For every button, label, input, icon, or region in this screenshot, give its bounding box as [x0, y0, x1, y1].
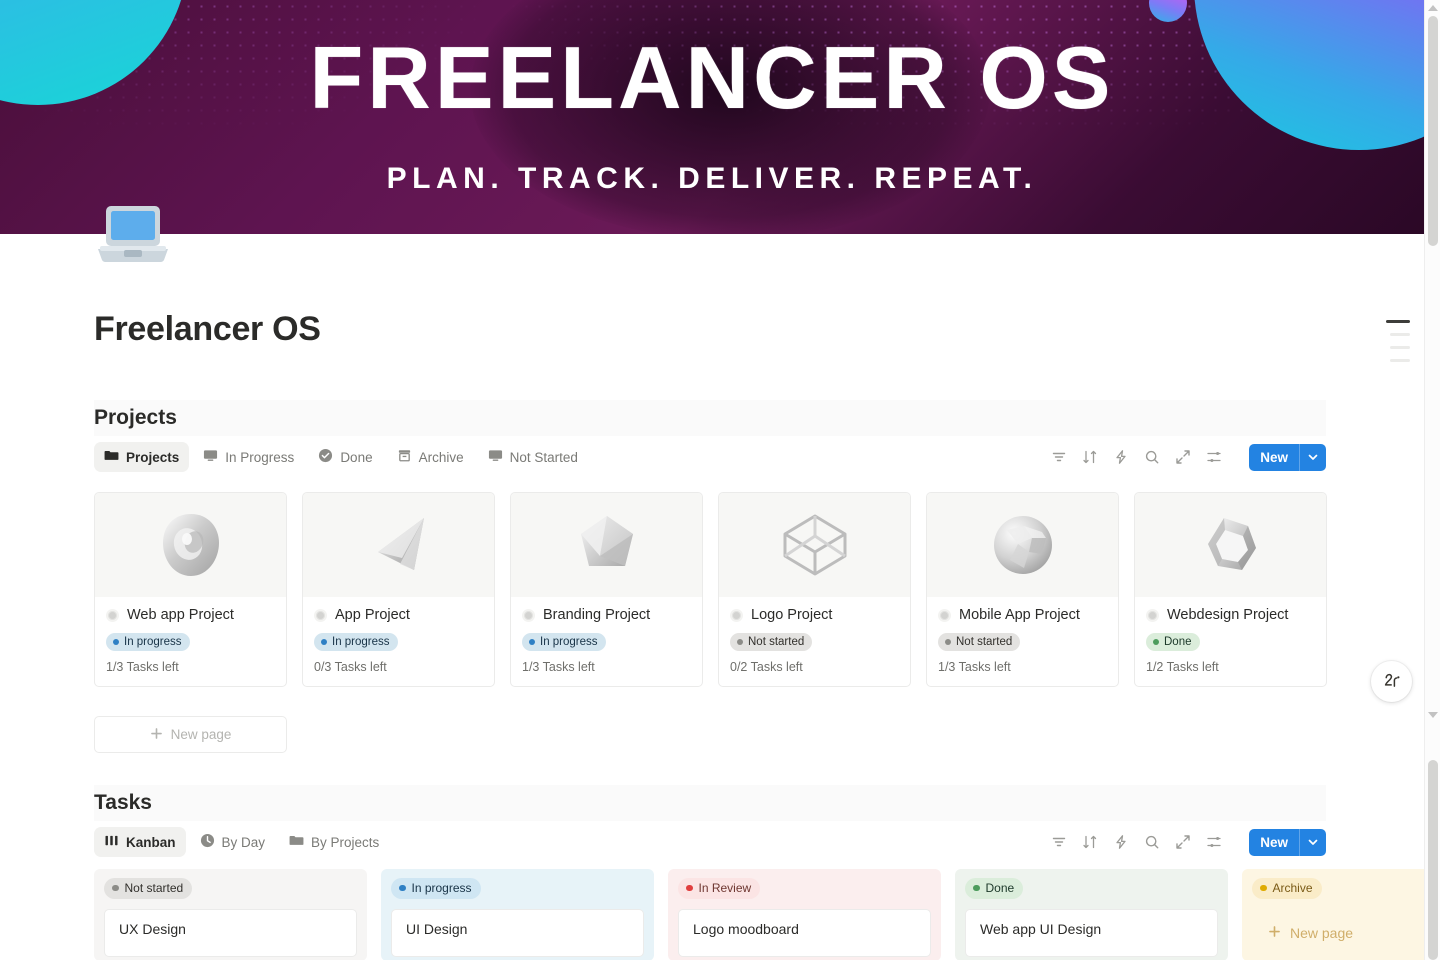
project-card-cover [927, 493, 1118, 597]
project-card-title-row: Branding Project [522, 607, 691, 623]
tab-archive-label: Archive [419, 450, 464, 465]
banner-subtitle: PLAN. TRACK. DELIVER. REPEAT. [387, 162, 1038, 196]
clock-icon [200, 833, 215, 851]
tasks-toolbar: Kanban By Day By Projects [94, 825, 1326, 859]
project-card-title: Logo Project [751, 607, 832, 623]
status-badge: In progress [106, 633, 190, 651]
badge-dot-icon [1153, 639, 1159, 645]
badge-dot-icon [945, 639, 951, 645]
kanban-column-label: In Review [699, 881, 752, 895]
knot-shape [154, 508, 228, 582]
project-card-title-row: Logo Project [730, 607, 899, 623]
cone-shape [362, 508, 436, 582]
project-card[interactable]: App Project In progress 0/3 Tasks left [302, 492, 495, 687]
status-badge-label: In progress [332, 636, 390, 648]
kanban-column-badge: In progress [391, 878, 481, 899]
tab-archive[interactable]: Archive [387, 442, 474, 472]
project-card-cover [95, 493, 286, 597]
project-card-title: Branding Project [543, 607, 650, 623]
tab-by-day-label: By Day [222, 835, 266, 850]
status-badge: Not started [730, 633, 812, 651]
status-badge: Done [1146, 633, 1200, 651]
tasks-new-button[interactable]: New [1249, 829, 1326, 856]
tab-projects[interactable]: Projects [94, 442, 189, 472]
projects-tool-icons: New [1050, 444, 1326, 471]
project-card-cover [1135, 493, 1326, 597]
projects-view-tabs: Projects In Progress Done Archive [94, 442, 588, 472]
project-tasks-left: 0/3 Tasks left [314, 660, 483, 674]
project-tasks-left: 1/3 Tasks left [106, 660, 275, 674]
kanban-card-title: Web app UI Design [980, 921, 1101, 937]
sort-icon[interactable] [1081, 448, 1099, 466]
project-card[interactable]: Branding Project In progress 1/3 Tasks l… [510, 492, 703, 687]
kanban-column-badge: Done [965, 878, 1023, 899]
project-card-title-row: App Project [314, 607, 483, 623]
project-card[interactable]: Logo Project Not started 0/2 Tasks left [718, 492, 911, 687]
tasks-view-tabs: Kanban By Day By Projects [94, 827, 389, 857]
tab-projects-label: Projects [126, 450, 179, 465]
badge-dot-icon [737, 639, 743, 645]
kanban-column-badge: Not started [104, 878, 192, 899]
tab-by-projects-label: By Projects [311, 835, 379, 850]
scrollbar-thumb[interactable] [1428, 16, 1438, 246]
toc-line[interactable] [1390, 333, 1410, 336]
facet-shape [570, 508, 644, 582]
table-of-contents[interactable] [1386, 320, 1410, 362]
kanban-column-in-progress[interactable]: In progress UI Design [381, 869, 654, 960]
ai-face-icon [1380, 670, 1404, 694]
project-card-title-row: Web app Project [106, 607, 275, 623]
page-title[interactable]: Freelancer OS [94, 310, 321, 349]
kanban-card[interactable]: UI Design [391, 909, 644, 957]
tab-not-started[interactable]: Not Started [478, 442, 588, 472]
kanban-column-in-review[interactable]: In Review Logo moodboard [668, 869, 941, 960]
status-badge: In progress [314, 633, 398, 651]
badge-dot-icon [973, 885, 980, 892]
page-scrollbar[interactable] [1424, 0, 1440, 960]
project-status-dot-icon [314, 609, 327, 622]
kanban-card-title: Logo moodboard [693, 921, 799, 937]
ai-assistant-button[interactable] [1371, 661, 1412, 702]
tasks-section-header: Tasks [94, 785, 1326, 821]
status-badge-label: In progress [124, 636, 182, 648]
monitor-icon [488, 448, 503, 466]
tasks-tool-icons: New [1050, 829, 1326, 856]
tab-done-label: Done [340, 450, 372, 465]
project-card-title: App Project [335, 607, 410, 623]
chevron-down-icon[interactable] [1300, 451, 1326, 463]
project-card-cover [303, 493, 494, 597]
projects-new-page-label: New page [171, 727, 232, 742]
folder-icon [104, 448, 119, 466]
kanban-column-archive[interactable]: Archive New page [1242, 869, 1440, 960]
status-badge-label: Not started [956, 636, 1012, 648]
wireframe-cube-shape [775, 508, 855, 582]
toc-line[interactable] [1390, 359, 1410, 362]
project-card-title-row: Mobile App Project [938, 607, 1107, 623]
projects-heading: Projects [94, 406, 177, 430]
kanban-board[interactable]: Not started UX Design In progress UI Des… [94, 869, 1440, 960]
tab-by-day[interactable]: By Day [190, 827, 276, 857]
plus-icon [1268, 925, 1281, 941]
tab-in-progress-label: In Progress [225, 450, 294, 465]
search-icon[interactable] [1143, 448, 1161, 466]
project-status-dot-icon [938, 609, 951, 622]
kanban-column-badge: In Review [678, 878, 760, 899]
settings-sliders-icon[interactable] [1205, 833, 1223, 851]
project-card-cover [719, 493, 910, 597]
toc-line-active[interactable] [1386, 320, 1410, 323]
badge-dot-icon [1260, 885, 1267, 892]
project-tasks-left: 0/2 Tasks left [730, 660, 899, 674]
kanban-card[interactable]: Web app UI Design [965, 909, 1218, 957]
project-tasks-left: 1/2 Tasks left [1146, 660, 1315, 674]
projects-section-header: Projects [94, 400, 1326, 436]
kanban-card[interactable]: UX Design [104, 909, 357, 957]
sort-icon[interactable] [1081, 833, 1099, 851]
badge-dot-icon [686, 885, 693, 892]
badge-dot-icon [112, 885, 119, 892]
banner-title: FREELANCER OS [310, 34, 1115, 122]
status-badge: In progress [522, 633, 606, 651]
kanban-column-label: Archive [1273, 881, 1313, 895]
project-status-dot-icon [1146, 609, 1159, 622]
lightning-icon[interactable] [1112, 448, 1130, 466]
project-tasks-left: 1/3 Tasks left [938, 660, 1107, 674]
project-card[interactable]: Mobile App Project Not started 1/3 Tasks… [926, 492, 1119, 687]
projects-toolbar: Projects In Progress Done Archive [94, 440, 1326, 474]
project-status-dot-icon [522, 609, 535, 622]
project-card-title-row: Webdesign Project [1146, 607, 1315, 623]
projects-new-label: New [1249, 450, 1299, 465]
expand-icon[interactable] [1174, 448, 1192, 466]
toc-line[interactable] [1390, 346, 1410, 349]
status-badge-label: Done [1164, 636, 1192, 648]
kanban-new-page-label: New page [1290, 925, 1353, 941]
project-card-title: Webdesign Project [1167, 607, 1288, 623]
projects-new-button[interactable]: New [1249, 444, 1326, 471]
badge-dot-icon [399, 885, 406, 892]
hex-ring-shape [1194, 508, 1268, 582]
expand-icon[interactable] [1174, 833, 1192, 851]
laptop-icon[interactable] [94, 202, 172, 272]
chevron-down-icon[interactable] [1300, 836, 1326, 848]
plus-icon [150, 727, 163, 743]
project-tasks-left: 1/3 Tasks left [522, 660, 691, 674]
project-status-dot-icon [106, 609, 119, 622]
tab-in-progress[interactable]: In Progress [193, 442, 304, 472]
project-card-title: Mobile App Project [959, 607, 1080, 623]
filter-icon[interactable] [1050, 448, 1068, 466]
check-circle-icon [318, 448, 333, 466]
sphere-shape [986, 508, 1060, 582]
project-card-title: Web app Project [127, 607, 234, 623]
scroll-down-arrow-icon[interactable] [1428, 712, 1438, 718]
badge-dot-icon [321, 639, 327, 645]
kanban-card-title: UX Design [119, 921, 186, 937]
kanban-column-done[interactable]: Done Web app UI Design [955, 869, 1228, 960]
scroll-up-arrow-icon[interactable] [1428, 5, 1438, 11]
kanban-card-title: UI Design [406, 921, 467, 937]
projects-card-gallery: Web app Project In progress 1/3 Tasks le… [94, 492, 1327, 687]
search-icon[interactable] [1143, 833, 1161, 851]
kanban-scrollbar-thumb[interactable] [1428, 760, 1438, 960]
status-badge-label: Not started [748, 636, 804, 648]
project-card-cover [511, 493, 702, 597]
app-page: FREELANCER OS PLAN. TRACK. DELIVER. REPE… [0, 0, 1440, 960]
kanban-column-label: Not started [125, 881, 184, 895]
tasks-heading: Tasks [94, 791, 152, 815]
tab-kanban-label: Kanban [126, 835, 176, 850]
page-cover-banner[interactable]: FREELANCER OS PLAN. TRACK. DELIVER. REPE… [0, 0, 1424, 234]
archive-icon [397, 448, 412, 466]
project-card[interactable]: Web app Project In progress 1/3 Tasks le… [94, 492, 287, 687]
status-badge: Not started [938, 633, 1020, 651]
kanban-column-label: In progress [412, 881, 472, 895]
project-status-dot-icon [730, 609, 743, 622]
tasks-new-label: New [1249, 835, 1299, 850]
kanban-icon [104, 833, 119, 851]
tab-by-projects[interactable]: By Projects [279, 827, 389, 857]
tab-kanban[interactable]: Kanban [94, 827, 186, 857]
projects-new-page-button[interactable]: New page [94, 716, 287, 753]
tab-not-started-label: Not Started [510, 450, 578, 465]
kanban-column-not-started[interactable]: Not started UX Design [94, 869, 367, 960]
kanban-column-label: Done [986, 881, 1015, 895]
kanban-card[interactable]: Logo moodboard [678, 909, 931, 957]
project-card[interactable]: Webdesign Project Done 1/2 Tasks left [1134, 492, 1327, 687]
badge-dot-icon [529, 639, 535, 645]
badge-dot-icon [113, 639, 119, 645]
filter-icon[interactable] [1050, 833, 1068, 851]
tab-done[interactable]: Done [308, 442, 382, 472]
folder-icon [289, 833, 304, 851]
status-badge-label: In progress [540, 636, 598, 648]
settings-sliders-icon[interactable] [1205, 448, 1223, 466]
kanban-new-page-button[interactable]: New page [1252, 909, 1440, 957]
monitor-icon [203, 448, 218, 466]
kanban-column-badge: Archive [1252, 878, 1322, 899]
lightning-icon[interactable] [1112, 833, 1130, 851]
